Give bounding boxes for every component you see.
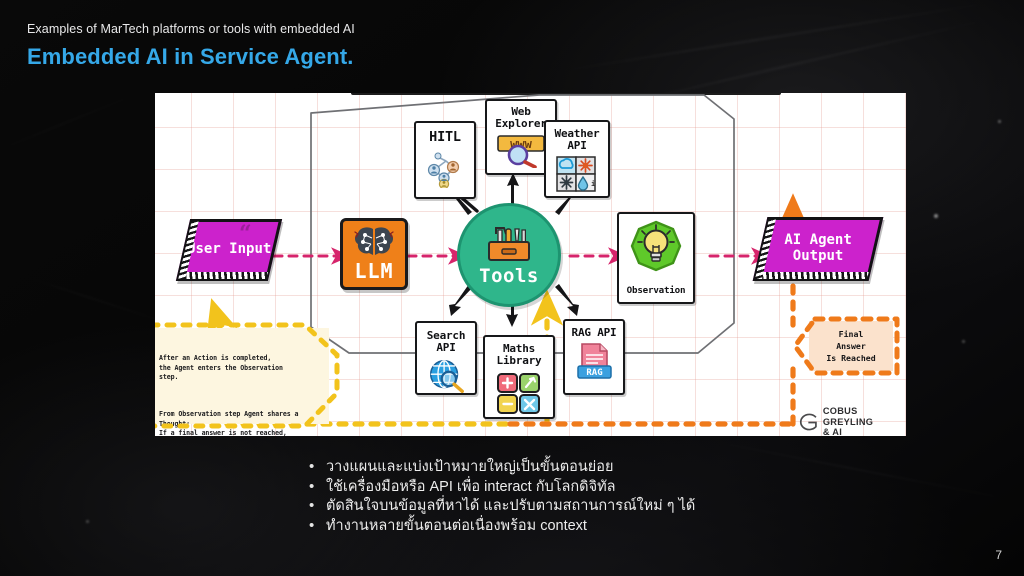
logo-line-2: & AI	[823, 427, 906, 436]
bg-glow-dot	[86, 520, 89, 523]
slide-root: Examples of MarTech platforms or tools w…	[0, 0, 1024, 576]
bg-streak	[562, 2, 987, 71]
list-item: ใช้เครื่องมือหรือ API เพื่อ interact กับ…	[305, 478, 695, 498]
bg-glow-dot	[998, 120, 1001, 123]
final-dashed-border	[795, 319, 897, 373]
slide-kicker: Examples of MarTech platforms or tools w…	[27, 22, 355, 36]
bullet-list: วางแผนและแบ่งเป้าหมายใหญ่เป็นขั้นตอนย่อย…	[305, 458, 695, 536]
bg-glow-dot	[962, 340, 965, 343]
page-number: 7	[995, 548, 1002, 562]
logo-line-1: COBUS GREYLING	[823, 406, 906, 427]
diagram-canvas: User Input “	[155, 93, 906, 436]
g-monogram-icon	[797, 412, 818, 432]
page-title: Embedded AI in Service Agent.	[27, 44, 353, 70]
list-item: ตัดสินใจบนข้อมูลที่หาได้ และปรับตามสถานก…	[305, 497, 695, 517]
bg-streak	[0, 86, 154, 155]
final-outline-layer	[155, 93, 906, 436]
brand-logo: COBUS GREYLING & AI	[797, 406, 906, 436]
list-item: ทำงานหลายขั้นตอนต่อเนื่องพร้อม context	[305, 517, 695, 537]
bg-streak	[703, 439, 1024, 504]
bg-glow-dot	[934, 214, 938, 218]
list-item: วางแผนและแบ่งเป้าหมายใหญ่เป็นขั้นตอนย่อย	[305, 458, 695, 478]
